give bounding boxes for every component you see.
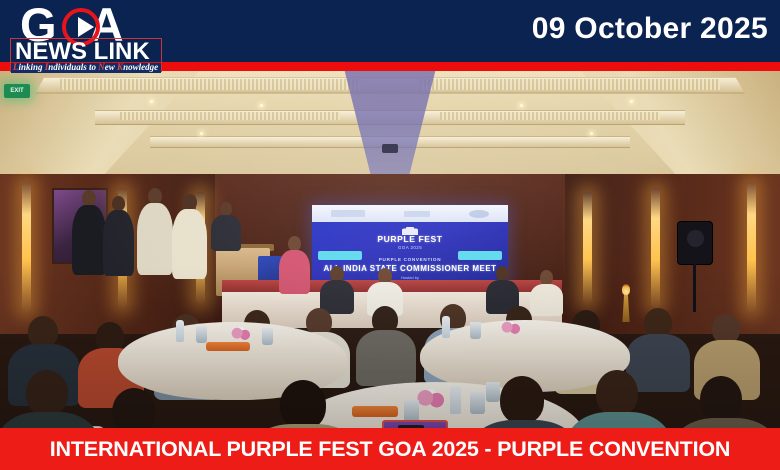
placemat — [352, 406, 398, 417]
ceiling-vent — [60, 79, 360, 90]
logo-tagline: Linking Individuals to New Knowledge — [13, 63, 158, 73]
logo-newslink-text: NEWS LINK — [15, 40, 150, 64]
footer-banner: INTERNATIONAL PURPLE FEST GOA 2025 - PUR… — [0, 428, 780, 470]
wall-light — [651, 188, 660, 308]
footer-headline: INTERNATIONAL PURPLE FEST GOA 2025 - PUR… — [0, 428, 780, 470]
water-bottle — [442, 316, 450, 338]
ceiling-vent — [120, 112, 340, 120]
news-card: GA NEWS LINK Linking Individuals to New … — [0, 0, 780, 470]
flower-arrangement — [228, 326, 254, 342]
oil-lamp-flame — [622, 284, 630, 295]
water-glass — [486, 382, 500, 402]
ceiling-light — [150, 100, 153, 103]
water-bottle — [450, 386, 461, 414]
partner-logo — [469, 210, 489, 218]
screen-partner-logos — [312, 207, 508, 220]
water-glass — [262, 328, 273, 345]
loudspeaker-cone — [687, 230, 704, 247]
water-glass — [404, 400, 419, 422]
event-photo: EXIT PURPLE FEST GOA 2025 PURPLE CONVENT… — [0, 70, 780, 428]
header-date: 09 October 2025 — [532, 10, 768, 48]
exit-sign: EXIT — [4, 84, 30, 98]
wall-light — [583, 192, 592, 304]
water-bottle — [176, 320, 184, 342]
wall-light — [747, 182, 756, 312]
play-icon — [78, 17, 94, 37]
ceiling-light — [630, 100, 633, 103]
flower-arrangement — [498, 320, 524, 336]
ceiling-light — [200, 132, 203, 135]
partner-logo — [331, 210, 365, 217]
ceiling-vent — [440, 112, 660, 120]
ceiling-light — [520, 104, 523, 107]
water-glass — [470, 392, 485, 414]
wall-light — [22, 182, 31, 312]
screen-kicker: PURPLE CONVENTION — [312, 257, 508, 263]
brand-logo[interactable]: GA NEWS LINK Linking Individuals to New … — [8, 2, 308, 72]
screen-wordmark: PURPLE FEST — [312, 235, 508, 244]
logo-tagline-bar: Linking Individuals to New Knowledge — [11, 63, 161, 73]
water-glass — [470, 322, 481, 339]
ceiling-light — [260, 104, 263, 107]
screen-top-strip — [312, 205, 508, 222]
partner-logo — [404, 211, 430, 217]
water-glass — [196, 326, 207, 343]
loudspeaker-stand — [693, 264, 696, 312]
ceiling-light — [590, 132, 593, 135]
placemat — [206, 342, 250, 351]
logo-newslink-box: NEWS LINK Linking Individuals to New Kno… — [10, 38, 162, 72]
ceiling-vent — [420, 79, 720, 90]
projector-icon — [382, 144, 398, 153]
screen-wordmark-sub: GOA 2025 — [312, 245, 508, 250]
